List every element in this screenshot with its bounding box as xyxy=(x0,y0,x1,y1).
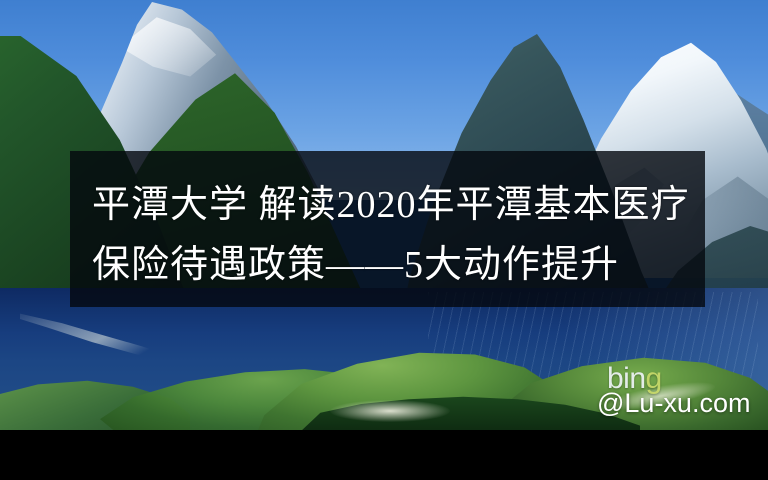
screenshot-root: 平潭大学 解读2020年平潭基本医疗保险待遇政策——5大动作提升 bing @L… xyxy=(0,0,768,480)
beach-streak-a xyxy=(330,400,450,422)
bottom-black-bar xyxy=(0,430,768,480)
site-watermark: @Lu-xu.com xyxy=(597,390,750,417)
title-text: 平潭大学 解读2020年平潭基本医疗保险待遇政策——5大动作提升 xyxy=(70,151,705,307)
